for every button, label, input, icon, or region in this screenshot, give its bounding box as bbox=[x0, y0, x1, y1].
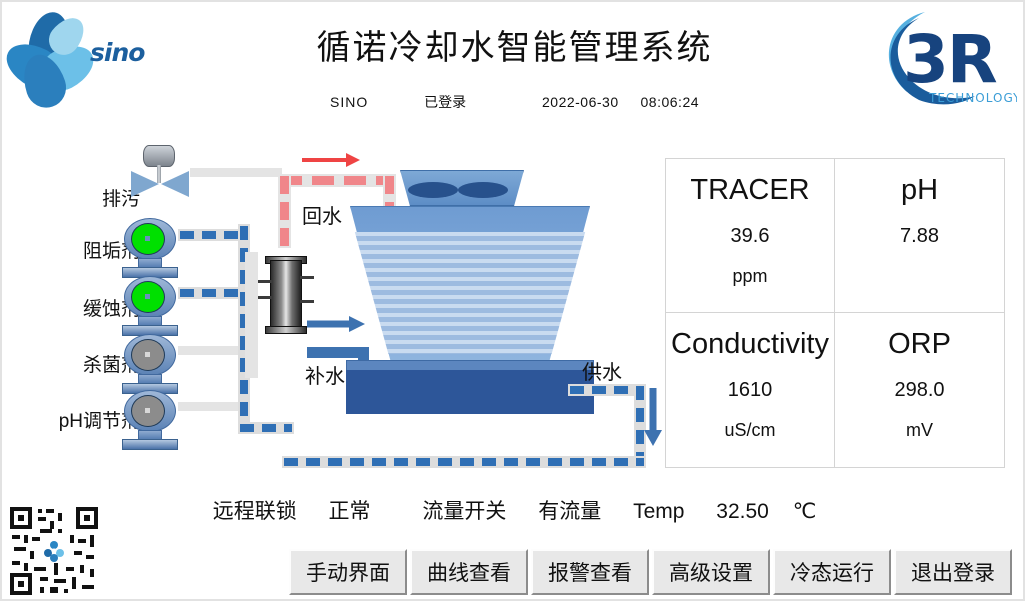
vessel-nozzle bbox=[300, 300, 314, 303]
qr-finder bbox=[10, 507, 32, 529]
tower-fill-louvers bbox=[350, 232, 590, 354]
manual-interface-button[interactable]: 手动界面 bbox=[289, 549, 407, 595]
pump-shaft-dot bbox=[145, 408, 150, 413]
logout-button[interactable]: 退出登录 bbox=[894, 549, 1012, 595]
pump-shaft-dot bbox=[145, 236, 150, 241]
measurement-unit: ppm bbox=[732, 266, 767, 287]
dosing-pump-scale-inhibitor[interactable] bbox=[120, 218, 180, 280]
qr-center-logo bbox=[42, 539, 66, 563]
flow-switch-label: 流量开关 bbox=[422, 495, 506, 525]
valve-right-body bbox=[161, 171, 189, 197]
measurement-value: 39.6 bbox=[731, 225, 770, 248]
page-title: 循诺冷却水智能管理系统 bbox=[2, 20, 1025, 69]
pump-base bbox=[122, 439, 178, 450]
measurement-name: Conductivity bbox=[671, 329, 829, 361]
qr-finder bbox=[76, 507, 98, 529]
temperature-label: Temp bbox=[633, 500, 684, 524]
blowdown-valve-icon[interactable] bbox=[125, 145, 195, 199]
supply-water-label: 供水 bbox=[582, 356, 622, 385]
analyzer-vessel[interactable] bbox=[264, 252, 308, 340]
vessel-nozzle bbox=[300, 276, 314, 279]
temperature-value: 32.50 bbox=[716, 500, 769, 524]
remote-interlock-label: 远程联锁 bbox=[213, 495, 297, 525]
blowdown-pipe bbox=[190, 168, 282, 177]
vessel-nozzle bbox=[258, 296, 272, 299]
measurement-value: 1610 bbox=[728, 379, 773, 402]
sample-loop-rail bbox=[245, 252, 258, 378]
vessel-shell bbox=[270, 260, 302, 330]
cooling-tower bbox=[332, 170, 622, 420]
blowdown-label: 排污 bbox=[20, 184, 140, 211]
measurement-value: 298.0 bbox=[894, 379, 944, 402]
measurement-unit: uS/cm bbox=[724, 420, 775, 441]
measurement-cell-orp[interactable]: ORP 298.0 mV bbox=[835, 313, 1004, 467]
pump-shaft-dot bbox=[145, 352, 150, 357]
dosing-pump-biocide[interactable] bbox=[120, 334, 180, 396]
tower-basin bbox=[346, 370, 594, 414]
measurement-name: ORP bbox=[888, 329, 951, 361]
login-status: 已登录 bbox=[424, 92, 466, 112]
measurement-cell-tracer[interactable]: TRACER 39.6 ppm bbox=[666, 159, 835, 313]
dosing-pump-ph-adjuster[interactable] bbox=[120, 390, 180, 452]
status-bar: 远程联锁 正常 流量开关 有流量 Temp 32.50 ℃ bbox=[2, 495, 1025, 525]
measurement-name: TRACER bbox=[690, 175, 809, 207]
qr-code[interactable] bbox=[10, 507, 98, 595]
measurement-cell-ph[interactable]: pH 7.88 bbox=[835, 159, 1004, 313]
advanced-settings-button[interactable]: 高级设置 bbox=[652, 549, 770, 595]
temperature-unit: ℃ bbox=[793, 499, 817, 524]
system-time: 08:06:24 bbox=[641, 94, 700, 110]
hmi-screen: sino 3R TECHNOLOGY 循诺冷却水智能管理系统 SINO 已登录 … bbox=[0, 0, 1025, 601]
button-bar: 手动界面 曲线查看 报警查看 高级设置 冷态运行 退出登录 bbox=[289, 549, 1012, 595]
cold-start-button[interactable]: 冷态运行 bbox=[773, 549, 891, 595]
qr-finder bbox=[10, 573, 32, 595]
alarm-view-button[interactable]: 报警查看 bbox=[531, 549, 649, 595]
valve-left-body bbox=[131, 171, 159, 197]
fan-blade bbox=[408, 182, 458, 198]
system-date: 2022-06-30 bbox=[542, 94, 619, 110]
fan-blade bbox=[458, 182, 508, 198]
dosing-pump-corrosion-inhibitor[interactable] bbox=[120, 276, 180, 338]
measurement-cell-conductivity[interactable]: Conductivity 1610 uS/cm bbox=[666, 313, 835, 467]
vessel-bottom-cap bbox=[265, 326, 307, 334]
measurement-name: pH bbox=[901, 175, 938, 207]
header-info-bar: SINO 已登录 2022-06-30 08:06:24 bbox=[2, 92, 1025, 112]
measurement-unit: mV bbox=[906, 420, 933, 441]
vessel-nozzle bbox=[258, 280, 272, 283]
supply-pipe-top bbox=[570, 386, 644, 394]
return-pipe-left bbox=[280, 176, 289, 246]
measurement-value: 7.88 bbox=[900, 225, 939, 248]
flow-switch-value: 有流量 bbox=[538, 495, 601, 525]
dosing-header-line bbox=[240, 424, 292, 432]
current-user: SINO bbox=[330, 94, 368, 110]
valve-actuator bbox=[143, 145, 175, 167]
supply-water-arrow bbox=[642, 388, 664, 451]
remote-interlock-value: 正常 bbox=[329, 495, 371, 525]
measurement-panel: TRACER 39.6 ppm pH 7.88 Conductivity 161… bbox=[665, 158, 1005, 468]
pump-shaft-dot bbox=[145, 294, 150, 299]
trend-view-button[interactable]: 曲线查看 bbox=[410, 549, 528, 595]
supply-return-line bbox=[284, 458, 644, 466]
